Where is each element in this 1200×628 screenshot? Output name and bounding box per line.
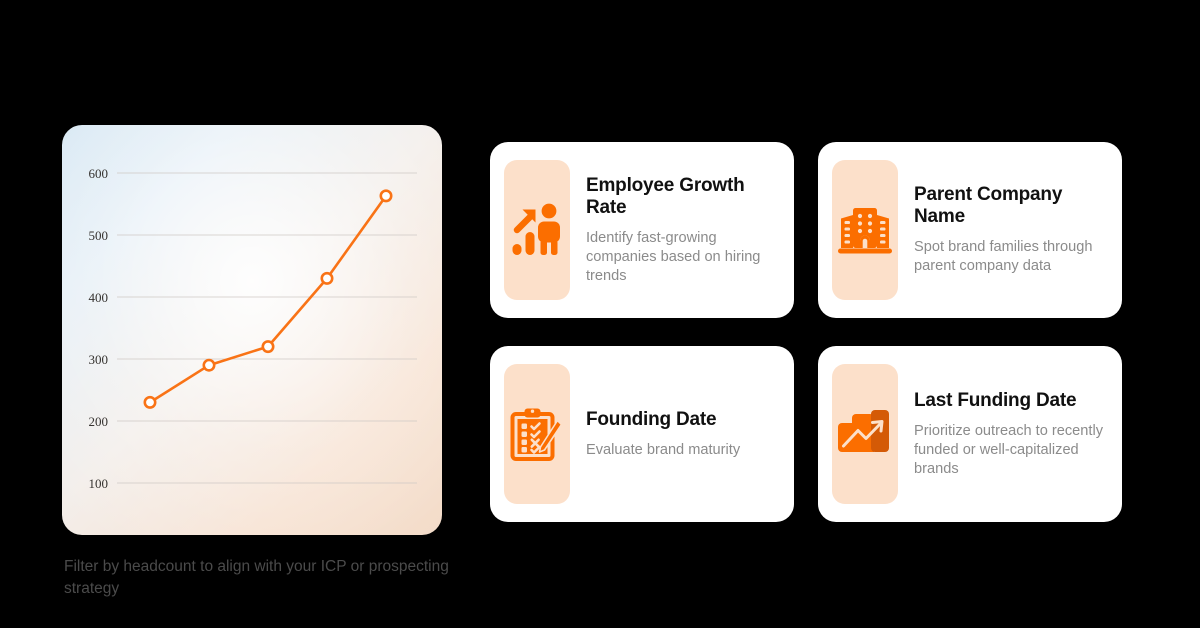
- headcount-chart-panel: 600 500 400 300 200 100 0 Jul Aug Sept O…: [62, 125, 442, 535]
- employee-growth-icon-tile: [504, 160, 570, 300]
- last-funding-icon-tile: [832, 364, 898, 504]
- card-description: Identify fast-growing companies based on…: [586, 229, 778, 286]
- data-point-sept: [263, 341, 273, 351]
- data-point-jul: [145, 397, 155, 407]
- founding-date-icon-tile: [504, 364, 570, 504]
- parent-company-icon-tile: [832, 160, 898, 300]
- card-description: Evaluate brand maturity: [586, 441, 778, 460]
- headcount-line-chart: 600 500 400 300 200 100 0 Jul Aug Sept O…: [62, 125, 442, 535]
- y-tick-label: 400: [89, 290, 109, 305]
- y-tick-label: 300: [89, 352, 109, 367]
- card-title: Employee Growth Rate: [586, 175, 778, 219]
- feature-card-last-funding-date[interactable]: Last Funding Date Prioritize outreach to…: [818, 346, 1122, 522]
- employee-growth-icon: [511, 202, 563, 258]
- card-title: Last Funding Date: [914, 390, 1106, 412]
- y-tick-label: 600: [89, 166, 109, 181]
- chart-gridlines: [117, 173, 417, 535]
- feature-cards-grid: Employee Growth Rate Identify fast-growi…: [490, 142, 1122, 528]
- data-point-oct: [322, 273, 332, 283]
- feature-card-founding-date[interactable]: Founding Date Evaluate brand maturity: [490, 346, 794, 522]
- founding-date-clipboard-icon: [510, 406, 564, 462]
- card-text: Parent Company Name Spot brand families …: [898, 184, 1106, 276]
- card-description: Prioritize outreach to recently funded o…: [914, 422, 1106, 479]
- y-tick-label: 200: [89, 414, 109, 429]
- headcount-series-markers: [145, 191, 391, 408]
- data-point-nov: [381, 191, 391, 201]
- card-title: Founding Date: [586, 409, 778, 431]
- card-text: Employee Growth Rate Identify fast-growi…: [570, 175, 778, 286]
- y-tick-label: 500: [89, 228, 109, 243]
- feature-card-parent-company-name[interactable]: Parent Company Name Spot brand families …: [818, 142, 1122, 318]
- data-point-aug: [204, 360, 214, 370]
- headcount-series-line: [150, 196, 386, 403]
- card-text: Last Funding Date Prioritize outreach to…: [898, 390, 1106, 479]
- chart-y-axis: 600 500 400 300 200 100 0: [89, 166, 109, 535]
- feature-card-employee-growth-rate[interactable]: Employee Growth Rate Identify fast-growi…: [490, 142, 794, 318]
- y-tick-label: 100: [89, 476, 109, 491]
- last-funding-chart-icon: [838, 407, 892, 461]
- card-description: Spot brand families through parent compa…: [914, 238, 1106, 276]
- parent-company-building-icon: [838, 204, 892, 256]
- card-text: Founding Date Evaluate brand maturity: [570, 409, 778, 460]
- card-title: Parent Company Name: [914, 184, 1106, 228]
- chart-caption: Filter by headcount to align with your I…: [64, 556, 464, 600]
